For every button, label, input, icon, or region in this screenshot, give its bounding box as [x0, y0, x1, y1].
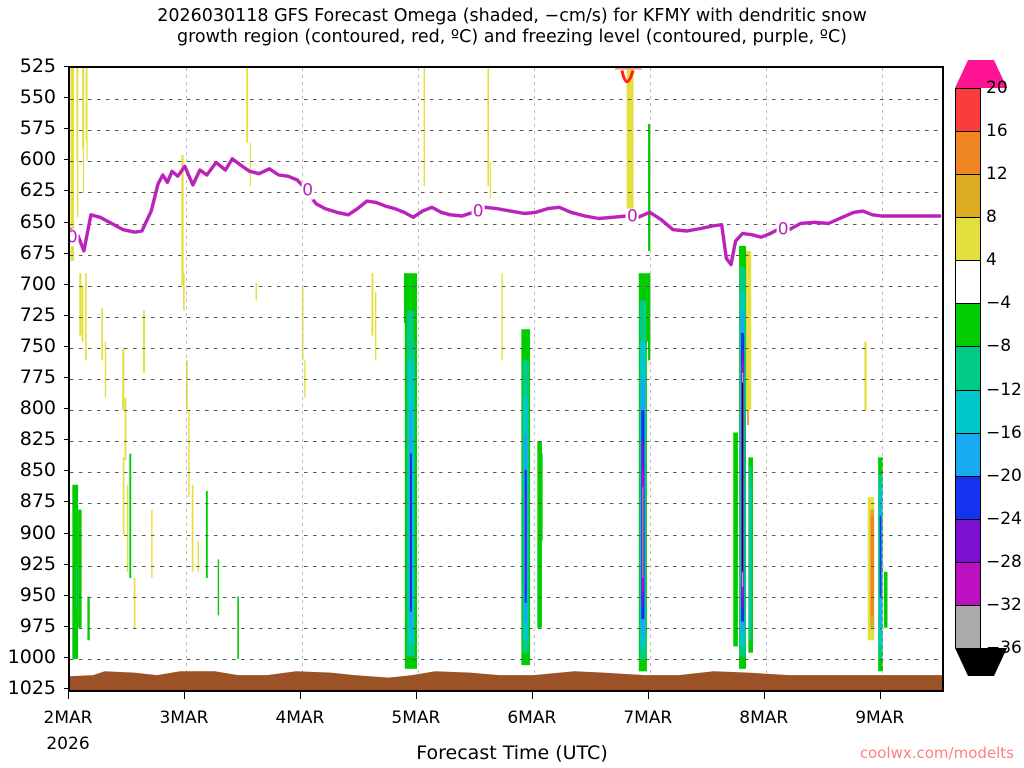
- x-axis-tick-label: 6MAR: [507, 708, 556, 728]
- freezing-level-line: [70, 159, 940, 265]
- y-axis-tick-label: 725: [20, 304, 64, 326]
- plot-area: 00000: [68, 66, 944, 692]
- y-axis-tick-label: 975: [20, 615, 64, 637]
- colorbar-tick-label: −4: [986, 293, 1011, 313]
- plot-inner: 00000: [70, 68, 942, 690]
- colorbar-tick-label: 20: [986, 78, 1008, 98]
- x-axis-tick-label: 8MAR: [739, 708, 788, 728]
- zero-contour-label: 0: [472, 204, 485, 221]
- y-axis-tick-label: 600: [20, 148, 64, 170]
- chart-page: 2026030118 GFS Forecast Omega (shaded, −…: [0, 0, 1024, 768]
- y-axis-tick-label: 925: [20, 553, 64, 575]
- colorbar-tick-label: −28: [986, 552, 1022, 572]
- colorbar-tick-label: −8: [986, 336, 1011, 356]
- chart-title-line-1: 2026030118 GFS Forecast Omega (shaded, −…: [0, 6, 1024, 27]
- colorbar-tick-label: 12: [986, 164, 1008, 184]
- zero-contour-label: 0: [301, 183, 314, 200]
- zero-contour-label: 0: [777, 221, 790, 238]
- colorbar-segment: [956, 89, 980, 132]
- y-axis-tick-label: 750: [20, 335, 64, 357]
- colorbar-segment: [956, 606, 980, 649]
- y-axis-tick-label: 575: [20, 117, 64, 139]
- terrain-fill: [70, 671, 942, 690]
- y-axis-tick-label: 700: [20, 273, 64, 295]
- y-axis-tick-label: 625: [20, 179, 64, 201]
- colorbar-tick-label: −24: [986, 509, 1022, 529]
- colorbar-tick-label: −32: [986, 595, 1022, 615]
- chart-title-line-2: growth region (contoured, red, ºC) and f…: [0, 27, 1024, 48]
- x-axis-tick: [880, 692, 881, 699]
- colorbar-segment: [956, 175, 980, 218]
- colorbar-tick-label: −12: [986, 380, 1022, 400]
- colorbar-tick-label: −20: [986, 466, 1022, 486]
- colorbar-segment: [956, 520, 980, 563]
- y-axis-tick-label: 825: [20, 428, 64, 450]
- credit-watermark: coolwx.com/modelts: [860, 744, 1014, 762]
- y-axis-tick-label: 675: [20, 242, 64, 264]
- colorbar-tick-label: 16: [986, 121, 1008, 141]
- zero-contour-label: 0: [70, 230, 79, 247]
- colorbar-tick-label: −36: [986, 638, 1022, 658]
- colorbar-segment: [956, 347, 980, 390]
- x-axis-tick: [532, 692, 533, 699]
- y-axis-tick-label: 1000: [8, 646, 64, 668]
- x-axis-tick-label: 9MAR: [855, 708, 904, 728]
- y-axis-tick-label: 875: [20, 490, 64, 512]
- x-axis-tick-label: 4MAR: [275, 708, 324, 728]
- colorbar-segment: [956, 261, 980, 304]
- x-axis-tick-label: 3MAR: [159, 708, 208, 728]
- colorbar-segment: [956, 218, 980, 261]
- x-axis-tick: [648, 692, 649, 699]
- colorbar-segment: [956, 391, 980, 434]
- y-axis-tick-label: 900: [20, 522, 64, 544]
- colorbar-segment: [956, 477, 980, 520]
- x-axis-tick: [184, 692, 185, 699]
- dendritic-growth-contour: [622, 70, 633, 81]
- y-axis-tick-label: 850: [20, 459, 64, 481]
- colorbar-tick-label: 4: [986, 250, 997, 270]
- x-axis-tick: [764, 692, 765, 699]
- colorbar-segment: [956, 563, 980, 606]
- y-axis-tick-label: 550: [20, 86, 64, 108]
- zero-contour-label: 0: [626, 209, 639, 226]
- colorbar-segment: [956, 434, 980, 477]
- y-axis-tick-label: 775: [20, 366, 64, 388]
- colorbar-segment: [956, 304, 980, 347]
- y-axis-tick-label: 1025: [8, 677, 64, 699]
- y-axis-tick-label: 950: [20, 584, 64, 606]
- y-axis-labels: 5255505756006256506757007257507758008258…: [0, 66, 64, 692]
- y-axis-tick-label: 650: [20, 211, 64, 233]
- colorbar-segment: [956, 132, 980, 175]
- chart-title: 2026030118 GFS Forecast Omega (shaded, −…: [0, 6, 1024, 48]
- x-axis-tick: [416, 692, 417, 699]
- freezing-level-and-terrain: [70, 68, 942, 690]
- colorbar-tick-label: 8: [986, 207, 997, 227]
- x-axis-tick: [68, 692, 69, 699]
- x-axis-tick-label: 7MAR: [623, 708, 672, 728]
- y-axis-tick-label: 525: [20, 55, 64, 77]
- x-axis-tick-label: 2MAR: [44, 708, 93, 728]
- colorbar: [955, 88, 981, 648]
- colorbar-tick-label: −16: [986, 423, 1022, 443]
- x-axis-tick: [300, 692, 301, 699]
- y-axis-tick-label: 800: [20, 397, 64, 419]
- x-axis-tick-label: 5MAR: [391, 708, 440, 728]
